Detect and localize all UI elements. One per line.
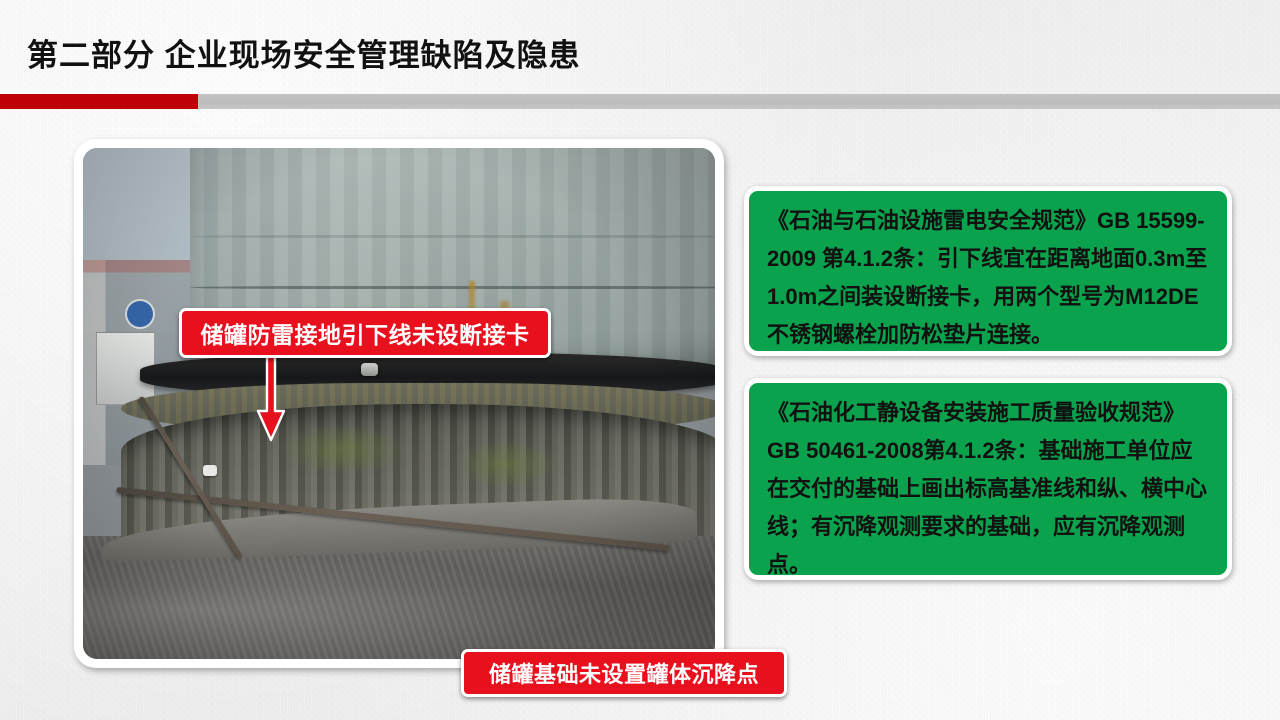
site-photo (83, 148, 715, 659)
standard-text: 《石油化工静设备安装施工质量验收规范》GB 50461-2008第4.1.2条：… (767, 394, 1213, 584)
standard-text: 《石油与石油设施雷电安全规范》GB 15599-2009 第4.1.2条：引下线… (767, 202, 1213, 354)
photo-vignette (83, 148, 715, 659)
page-title: 第二部分 企业现场安全管理缺陷及隐患 (27, 30, 581, 75)
standard-box-gb15599: 《石油与石油设施雷电安全规范》GB 15599-2009 第4.1.2条：引下线… (744, 186, 1232, 356)
slide-root: 第二部分 企业现场安全管理缺陷及隐患 (0, 0, 1280, 720)
divider-accent-segment (0, 94, 198, 109)
callout-lightning-downlead[interactable]: 储罐防雷接地引下线未设断接卡 (179, 308, 551, 358)
header-divider (0, 94, 1280, 109)
down-arrow-icon (256, 345, 286, 443)
callout-settlement-point[interactable]: 储罐基础未设置罐体沉降点 (461, 649, 787, 697)
standard-box-gb50461: 《石油化工静设备安装施工质量验收规范》GB 50461-2008第4.1.2条：… (744, 378, 1232, 580)
divider-track-segment (198, 94, 1280, 109)
photo-card: 储罐防雷接地引下线未设断接卡 储罐基础未设置罐体沉降点 (74, 139, 724, 668)
